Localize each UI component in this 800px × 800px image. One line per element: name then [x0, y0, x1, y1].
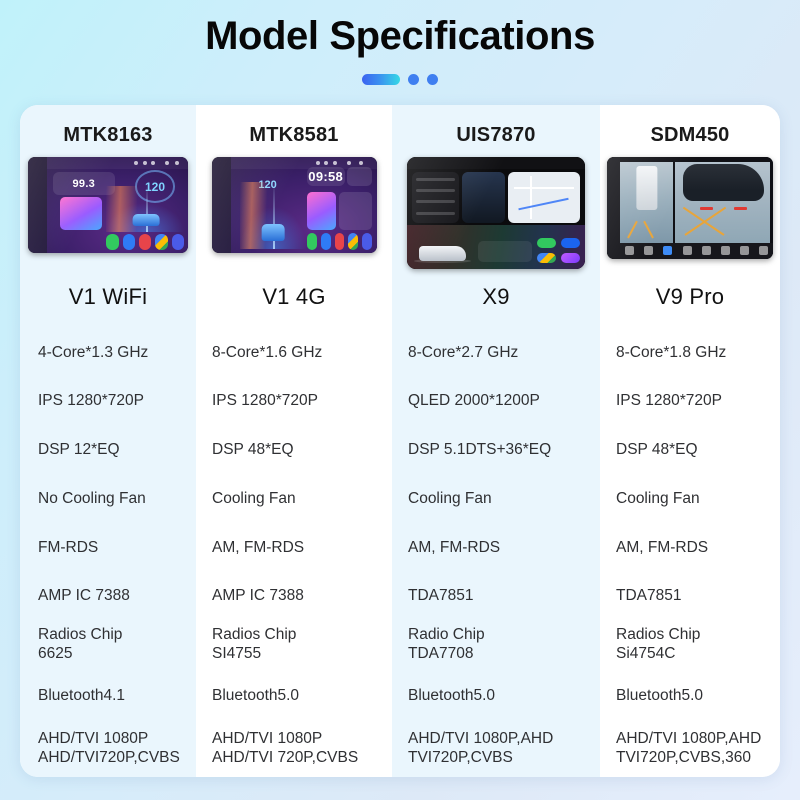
product-name-2: V1 4G — [196, 277, 392, 317]
device-image-3 — [392, 157, 600, 279]
page-title: Model Specifications — [0, 14, 800, 59]
v1-4g-head-unit: 120 09:58 — [212, 157, 377, 253]
chipset-name-1: MTK8163 — [20, 105, 196, 157]
spec-cell: 4-Core*1.3 GHz — [20, 329, 196, 377]
product-name-1: V1 WiFi — [20, 277, 196, 317]
product-name-4: V9 Pro — [600, 277, 780, 317]
spec-list-2: 8-Core*1.6 GHz IPS 1280*720P DSP 48*EQ C… — [196, 317, 392, 777]
spec-cell: Radio Chip TDA7708 — [392, 619, 600, 671]
spec-cell: FM-RDS — [20, 524, 196, 573]
v1-wifi-head-unit: 99.3 120 — [28, 157, 188, 253]
spec-cell: No Cooling Fan — [20, 475, 196, 524]
spec-cell: AHD/TVI 1080P AHD/TVI720P,CVBS — [20, 721, 196, 777]
spec-column-sdm450: SDM450 — [600, 105, 780, 777]
spec-cell: Radios Chip SI4755 — [196, 619, 392, 671]
spec-cell: TDA7851 — [392, 573, 600, 619]
spec-cell: AM, FM-RDS — [392, 524, 600, 573]
spec-list-4: 8-Core*1.8 GHz IPS 1280*720P DSP 48*EQ C… — [600, 317, 780, 777]
spec-cell: DSP 5.1DTS+36*EQ — [392, 426, 600, 475]
spec-cell: IPS 1280*720P — [196, 377, 392, 426]
spec-cell: AHD/TVI 1080P AHD/TVI 720P,CVBS — [196, 721, 392, 777]
carousel-dot-2[interactable] — [408, 74, 419, 85]
spec-cell: AHD/TVI 1080P,AHD TVI720P,CVBS,360 — [600, 721, 780, 777]
spec-cell: 8-Core*1.8 GHz — [600, 329, 780, 377]
spec-cell: AMP IC 7388 — [196, 573, 392, 619]
page-header: Model Specifications — [0, 0, 800, 105]
spec-cell: Bluetooth5.0 — [196, 671, 392, 721]
chipset-name-3: UIS7870 — [392, 105, 600, 157]
spec-column-mtk8163: MTK8163 99.3 — [20, 105, 196, 777]
chipset-name-4: SDM450 — [600, 105, 780, 157]
carousel-active-pill[interactable] — [362, 74, 400, 85]
carousel-dot-3[interactable] — [427, 74, 438, 85]
spec-column-uis7870: UIS7870 — [392, 105, 600, 777]
v9-pro-head-unit — [607, 157, 773, 259]
spec-cell: Bluetooth4.1 — [20, 671, 196, 721]
spec-cell: QLED 2000*1200P — [392, 377, 600, 426]
spec-cell: Cooling Fan — [196, 475, 392, 524]
spec-cell: Radios Chip 6625 — [20, 619, 196, 671]
spec-cell: Bluetooth5.0 — [600, 671, 780, 721]
x9-head-unit — [407, 157, 585, 269]
spec-cell: AHD/TVI 1080P,AHD TVI720P,CVBS — [392, 721, 600, 777]
device-image-2: 120 09:58 — [196, 157, 392, 279]
spec-list-3: 8-Core*2.7 GHz QLED 2000*1200P DSP 5.1DT… — [392, 317, 600, 777]
model-specifications-page: Model Specifications MTK8163 — [0, 0, 800, 800]
spec-cell: TDA7851 — [600, 573, 780, 619]
spec-cell: Bluetooth5.0 — [392, 671, 600, 721]
carousel-indicator[interactable] — [0, 74, 800, 85]
spec-cell: AM, FM-RDS — [600, 524, 780, 573]
device-image-4 — [600, 157, 780, 279]
spec-cell: AM, FM-RDS — [196, 524, 392, 573]
spec-cell: DSP 48*EQ — [600, 426, 780, 475]
spec-cell: Cooling Fan — [392, 475, 600, 524]
device-image-1: 99.3 120 — [20, 157, 196, 279]
spec-column-mtk8581: MTK8581 120 — [196, 105, 392, 777]
chipset-name-2: MTK8581 — [196, 105, 392, 157]
spec-list-1: 4-Core*1.3 GHz IPS 1280*720P DSP 12*EQ N… — [20, 317, 196, 777]
spec-cell: IPS 1280*720P — [600, 377, 780, 426]
spec-cell: Radios Chip Si4754C — [600, 619, 780, 671]
spec-cell: 8-Core*2.7 GHz — [392, 329, 600, 377]
spec-cell: IPS 1280*720P — [20, 377, 196, 426]
product-name-3: X9 — [392, 277, 600, 317]
spec-cell: DSP 48*EQ — [196, 426, 392, 475]
spec-cell: DSP 12*EQ — [20, 426, 196, 475]
specifications-table: MTK8163 99.3 — [20, 105, 780, 777]
spec-cell: Cooling Fan — [600, 475, 780, 524]
spec-cell: 8-Core*1.6 GHz — [196, 329, 392, 377]
spec-cell: AMP IC 7388 — [20, 573, 196, 619]
